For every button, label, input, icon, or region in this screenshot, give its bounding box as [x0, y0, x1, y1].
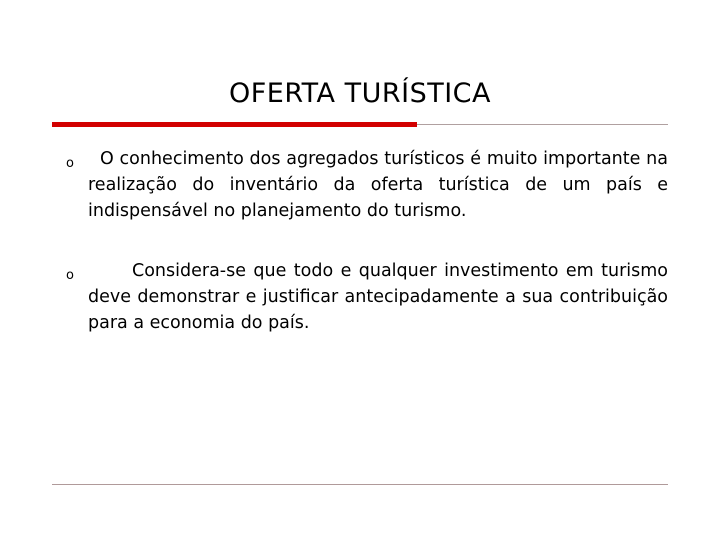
- bullet-square-icon: o: [52, 146, 88, 170]
- title-divider-line: [417, 124, 668, 125]
- slide-body: o O conhecimento dos agregados turístico…: [52, 146, 668, 336]
- list-item: o O conhecimento dos agregados turístico…: [52, 146, 668, 224]
- list-item-text: Considera-se que todo e qualquer investi…: [88, 258, 668, 336]
- title-divider: [52, 122, 668, 128]
- footer-divider: [52, 484, 668, 485]
- list-item-text: O conhecimento dos agregados turísticos …: [88, 146, 668, 224]
- page-title: OFERTA TURÍSTICA: [0, 78, 720, 109]
- bullet-square-icon: o: [52, 258, 88, 282]
- slide: OFERTA TURÍSTICA o O conhecimento dos ag…: [0, 0, 720, 540]
- title-divider-accent: [52, 122, 417, 127]
- list-item: o Considera-se que todo e qualquer inves…: [52, 258, 668, 336]
